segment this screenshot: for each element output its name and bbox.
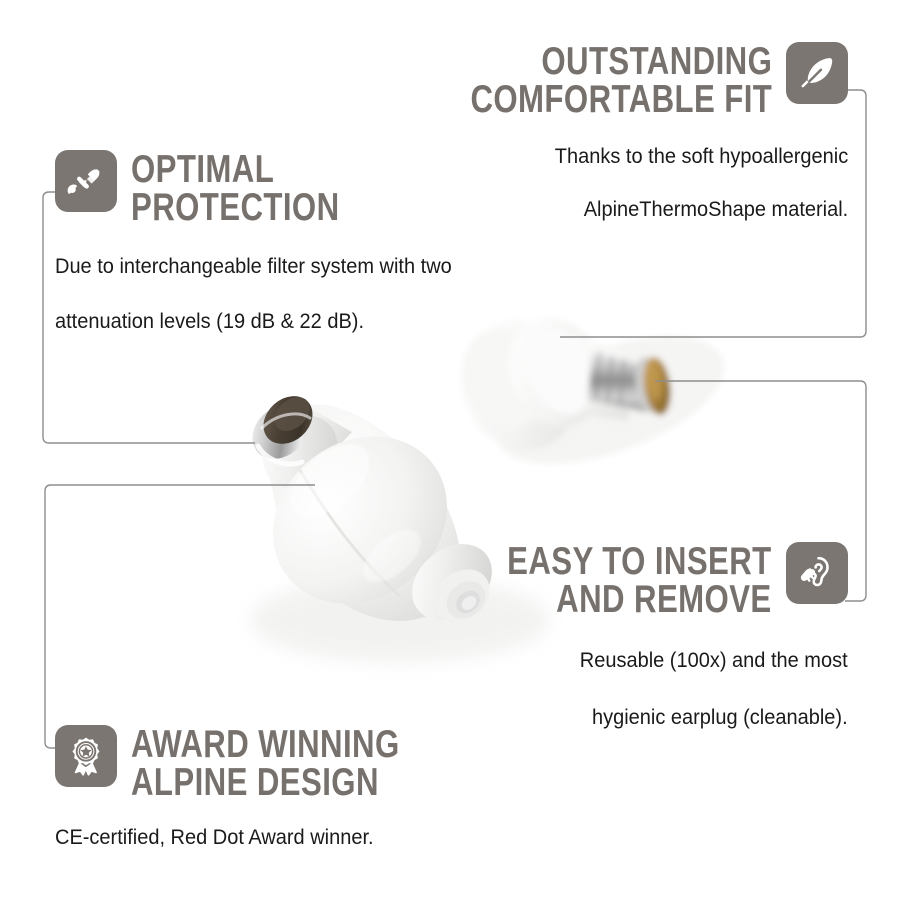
feather-icon bbox=[786, 42, 848, 104]
earplug-icon bbox=[55, 150, 117, 212]
feature-headline: AWARD WINNING ALPINE DESIGN bbox=[131, 725, 467, 801]
feature-body-line2: AlpineThermoShape material. bbox=[426, 195, 848, 225]
feature-heading-row: OUTSTANDING COMFORTABLE FIT bbox=[395, 42, 848, 118]
infographic-page: OPTIMAL PROTECTION Due to interchangeabl… bbox=[0, 0, 900, 900]
feature-easy-insert-remove: EASY TO INSERT AND REMOVE Reusable (100x… bbox=[441, 542, 848, 733]
feature-body-line1: CE-certified, Red Dot Award winner. bbox=[55, 823, 438, 853]
feature-body-line2: hygienic earplug (cleanable). bbox=[470, 703, 848, 733]
feature-heading-row: AWARD WINNING ALPINE DESIGN bbox=[55, 725, 467, 801]
feature-body-line1: Due to interchangeable filter system wit… bbox=[55, 252, 452, 282]
feature-headline: EASY TO INSERT AND REMOVE bbox=[441, 542, 772, 618]
feature-headline: OPTIMAL PROTECTION bbox=[131, 150, 392, 226]
feature-heading-row: EASY TO INSERT AND REMOVE bbox=[441, 542, 848, 618]
feature-comfortable-fit: OUTSTANDING COMFORTABLE FIT Thanks to th… bbox=[395, 42, 848, 225]
feature-body-line2: attenuation levels (19 dB & 22 dB). bbox=[55, 307, 452, 337]
feature-body-line1: Reusable (100x) and the most bbox=[470, 646, 848, 676]
feature-award-winning-design: AWARD WINNING ALPINE DESIGN CE-certified… bbox=[55, 725, 467, 852]
feature-headline: OUTSTANDING COMFORTABLE FIT bbox=[395, 42, 772, 118]
ear-with-earplug-icon bbox=[786, 542, 848, 604]
feature-body-line1: Thanks to the soft hypoallergenic bbox=[426, 142, 848, 172]
background-earplug bbox=[441, 302, 740, 490]
award-ribbon-icon bbox=[55, 725, 117, 787]
